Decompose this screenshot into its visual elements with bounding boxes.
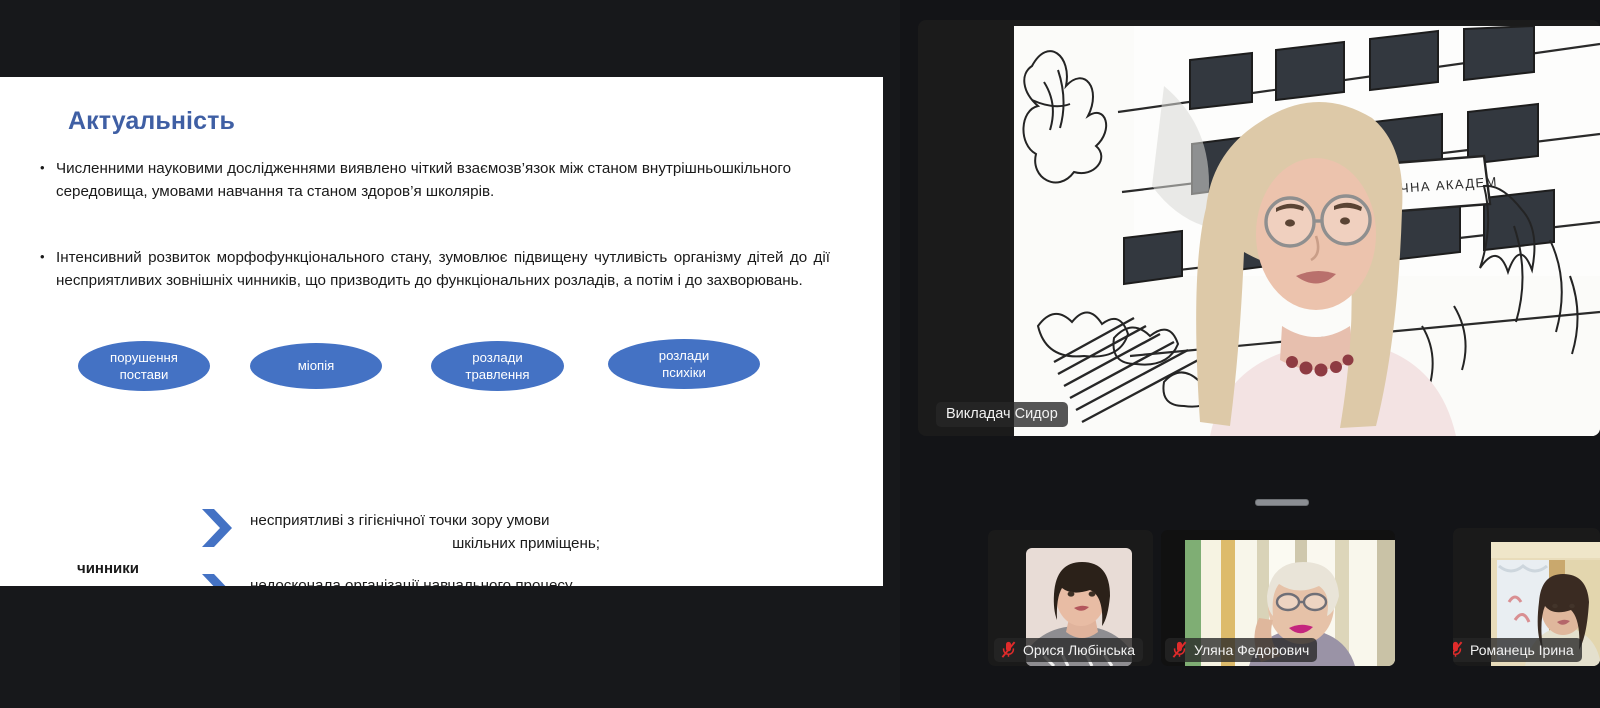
ellipse-shape: розлади психіки [608,339,760,389]
ellipse-0-line-2: постави [120,367,169,382]
participant-name-label: Уляна Федорович [1165,638,1317,662]
ellipse-2-line-2: травлення [465,367,529,382]
diagram-ellipse-row: порушення постави міопія розлади травлен… [60,339,860,399]
participant-name-text: Уляна Федорович [1194,642,1309,658]
active-speaker-tile[interactable]: ЛЬВІВСЬКА МЕДИЧНА АКАДЕМ [918,20,1600,436]
factor-0-line-2: шкільних приміщень; [250,532,600,555]
factor-0-line-1: несприятливі з гігієнічної точки зору ум… [250,512,550,529]
participant-name-text: Орися Любінська [1023,642,1135,658]
presentation-slide[interactable]: Актуальність • Численними науковими досл… [0,77,883,586]
panel-resize-handle[interactable] [1255,499,1309,506]
ellipse-2-line-1: розлади [472,350,523,365]
participant-thumbnail-strip: Орися Любінська [900,528,1600,668]
slide-bullet-2-text: Інтенсивний розвиток морфофункціональног… [56,247,830,292]
factor-item: несприятливі з гігієнічної точки зору ум… [200,507,800,555]
page-title: Актуальність [68,107,235,136]
factor-text: недосконала організації навчального проц… [250,572,575,586]
speaker-video: ЛЬВІВСЬКА МЕДИЧНА АКАДЕМ [1014,26,1600,436]
slide-bullet-1-text: Численними науковими дослідженнями виявл… [56,158,830,203]
mic-off-icon [1453,641,1463,658]
participant-tile[interactable]: Романець Ірина [1453,528,1600,666]
presenter-figure [1014,26,1600,436]
ellipse-3-line-2: психіки [662,365,706,380]
factor-text: несприятливі з гігієнічної точки зору ум… [250,507,600,555]
bullet-marker: • [40,158,56,203]
bullet-marker: • [40,247,56,292]
participant-tile[interactable]: Орися Любінська [988,530,1153,666]
chevron-right-icon [200,572,238,586]
ellipse-0-line-1: порушення [110,350,178,365]
participant-name-label: Орися Любінська [994,638,1143,662]
ellipse-3-line-1: розлади [659,348,710,363]
video-gallery-pane: ЛЬВІВСЬКА МЕДИЧНА АКАДЕМ [900,0,1600,708]
meeting-window: Актуальність • Численними науковими досл… [0,0,1600,708]
speaker-name-text: Викладач Сидор [946,406,1058,422]
participant-tile[interactable]: Уляна Федорович [1161,530,1395,666]
ellipse-1-line-1: міопія [298,358,335,373]
mic-off-icon [1172,641,1187,658]
chevron-right-icon [200,507,238,549]
slide-bullet-1: • Численними науковими дослідженнями вия… [40,158,830,203]
ellipse-shape: порушення постави [78,341,210,391]
ellipse-shape: міопія [250,343,382,389]
slide-bullet-2: • Інтенсивний розвиток морфофункціональн… [40,247,830,292]
shared-screen-pane[interactable]: Актуальність • Численними науковими досл… [0,0,900,708]
factors-label: чинники [77,560,139,577]
factor-1-line-1: недосконала організації навчального проц… [250,577,575,586]
bullet-2-line-2: функціональних розладів, а потім і до за… [436,272,803,289]
mic-off-icon [1001,641,1016,658]
bullet-1-line-1: Численними науковими дослідженнями виявл… [56,160,638,177]
participant-name-label: Романець Ірина [1453,638,1582,662]
factor-item: недосконала організації навчального проц… [200,572,800,586]
ellipse-shape: розлади травлення [431,341,564,391]
participant-name-text: Романець Ірина [1470,642,1574,658]
speaker-name-label: Викладач Сидор [936,402,1068,427]
